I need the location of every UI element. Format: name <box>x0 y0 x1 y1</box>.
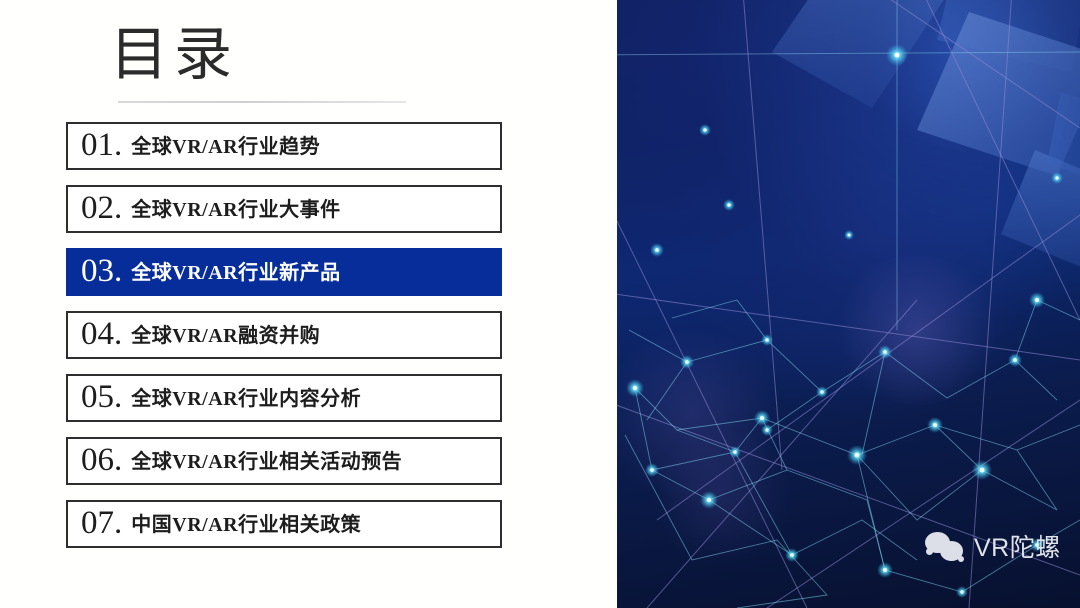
page-title: 目录 <box>110 19 238 91</box>
wechat-icon <box>925 530 967 566</box>
toc-item-label: 全球VR/AR行业内容分析 <box>131 388 361 410</box>
toc-item-label: 全球VR/AR行业大事件 <box>131 199 340 221</box>
toc-item-label: 中国VR/AR行业相关政策 <box>131 514 361 536</box>
title-divider <box>118 101 406 103</box>
slide-canvas: 目录 01.全球VR/AR行业趋势02.全球VR/AR行业大事件03.全球VR/… <box>0 0 1080 608</box>
toc-item-label: 全球VR/AR融资并购 <box>131 325 320 347</box>
toc-item-number: 01. <box>81 129 122 162</box>
toc-item-number: 02. <box>81 192 122 225</box>
toc-item-number: 05. <box>81 381 122 414</box>
toc-item-7[interactable]: 07.中国VR/AR行业相关政策 <box>66 500 502 548</box>
toc-item-label: 全球VR/AR行业相关活动预告 <box>131 451 402 473</box>
table-of-contents-panel: 目录 01.全球VR/AR行业趋势02.全球VR/AR行业大事件03.全球VR/… <box>0 0 618 608</box>
toc-item-1[interactable]: 01.全球VR/AR行业趋势 <box>66 122 502 170</box>
decorative-network-panel <box>617 0 1080 608</box>
toc-item-label: 全球VR/AR行业新产品 <box>131 262 340 284</box>
toc-item-2[interactable]: 02.全球VR/AR行业大事件 <box>66 185 502 233</box>
toc-item-label: 全球VR/AR行业趋势 <box>131 136 320 158</box>
toc-item-number: 03. <box>81 255 122 288</box>
toc-item-5[interactable]: 05.全球VR/AR行业内容分析 <box>66 374 502 422</box>
watermark-text: VR陀螺 <box>974 536 1061 561</box>
toc-item-6[interactable]: 06.全球VR/AR行业相关活动预告 <box>66 437 502 485</box>
toc-item-number: 04. <box>81 318 122 351</box>
toc-item-number: 07. <box>81 507 122 540</box>
network-constellation-graphic <box>617 0 1080 608</box>
toc-list: 01.全球VR/AR行业趋势02.全球VR/AR行业大事件03.全球VR/AR行… <box>66 122 502 563</box>
toc-item-3[interactable]: 03.全球VR/AR行业新产品 <box>66 248 502 296</box>
watermark: VR陀螺 <box>925 530 1061 566</box>
toc-item-4[interactable]: 04.全球VR/AR融资并购 <box>66 311 502 359</box>
toc-item-number: 06. <box>81 444 122 477</box>
